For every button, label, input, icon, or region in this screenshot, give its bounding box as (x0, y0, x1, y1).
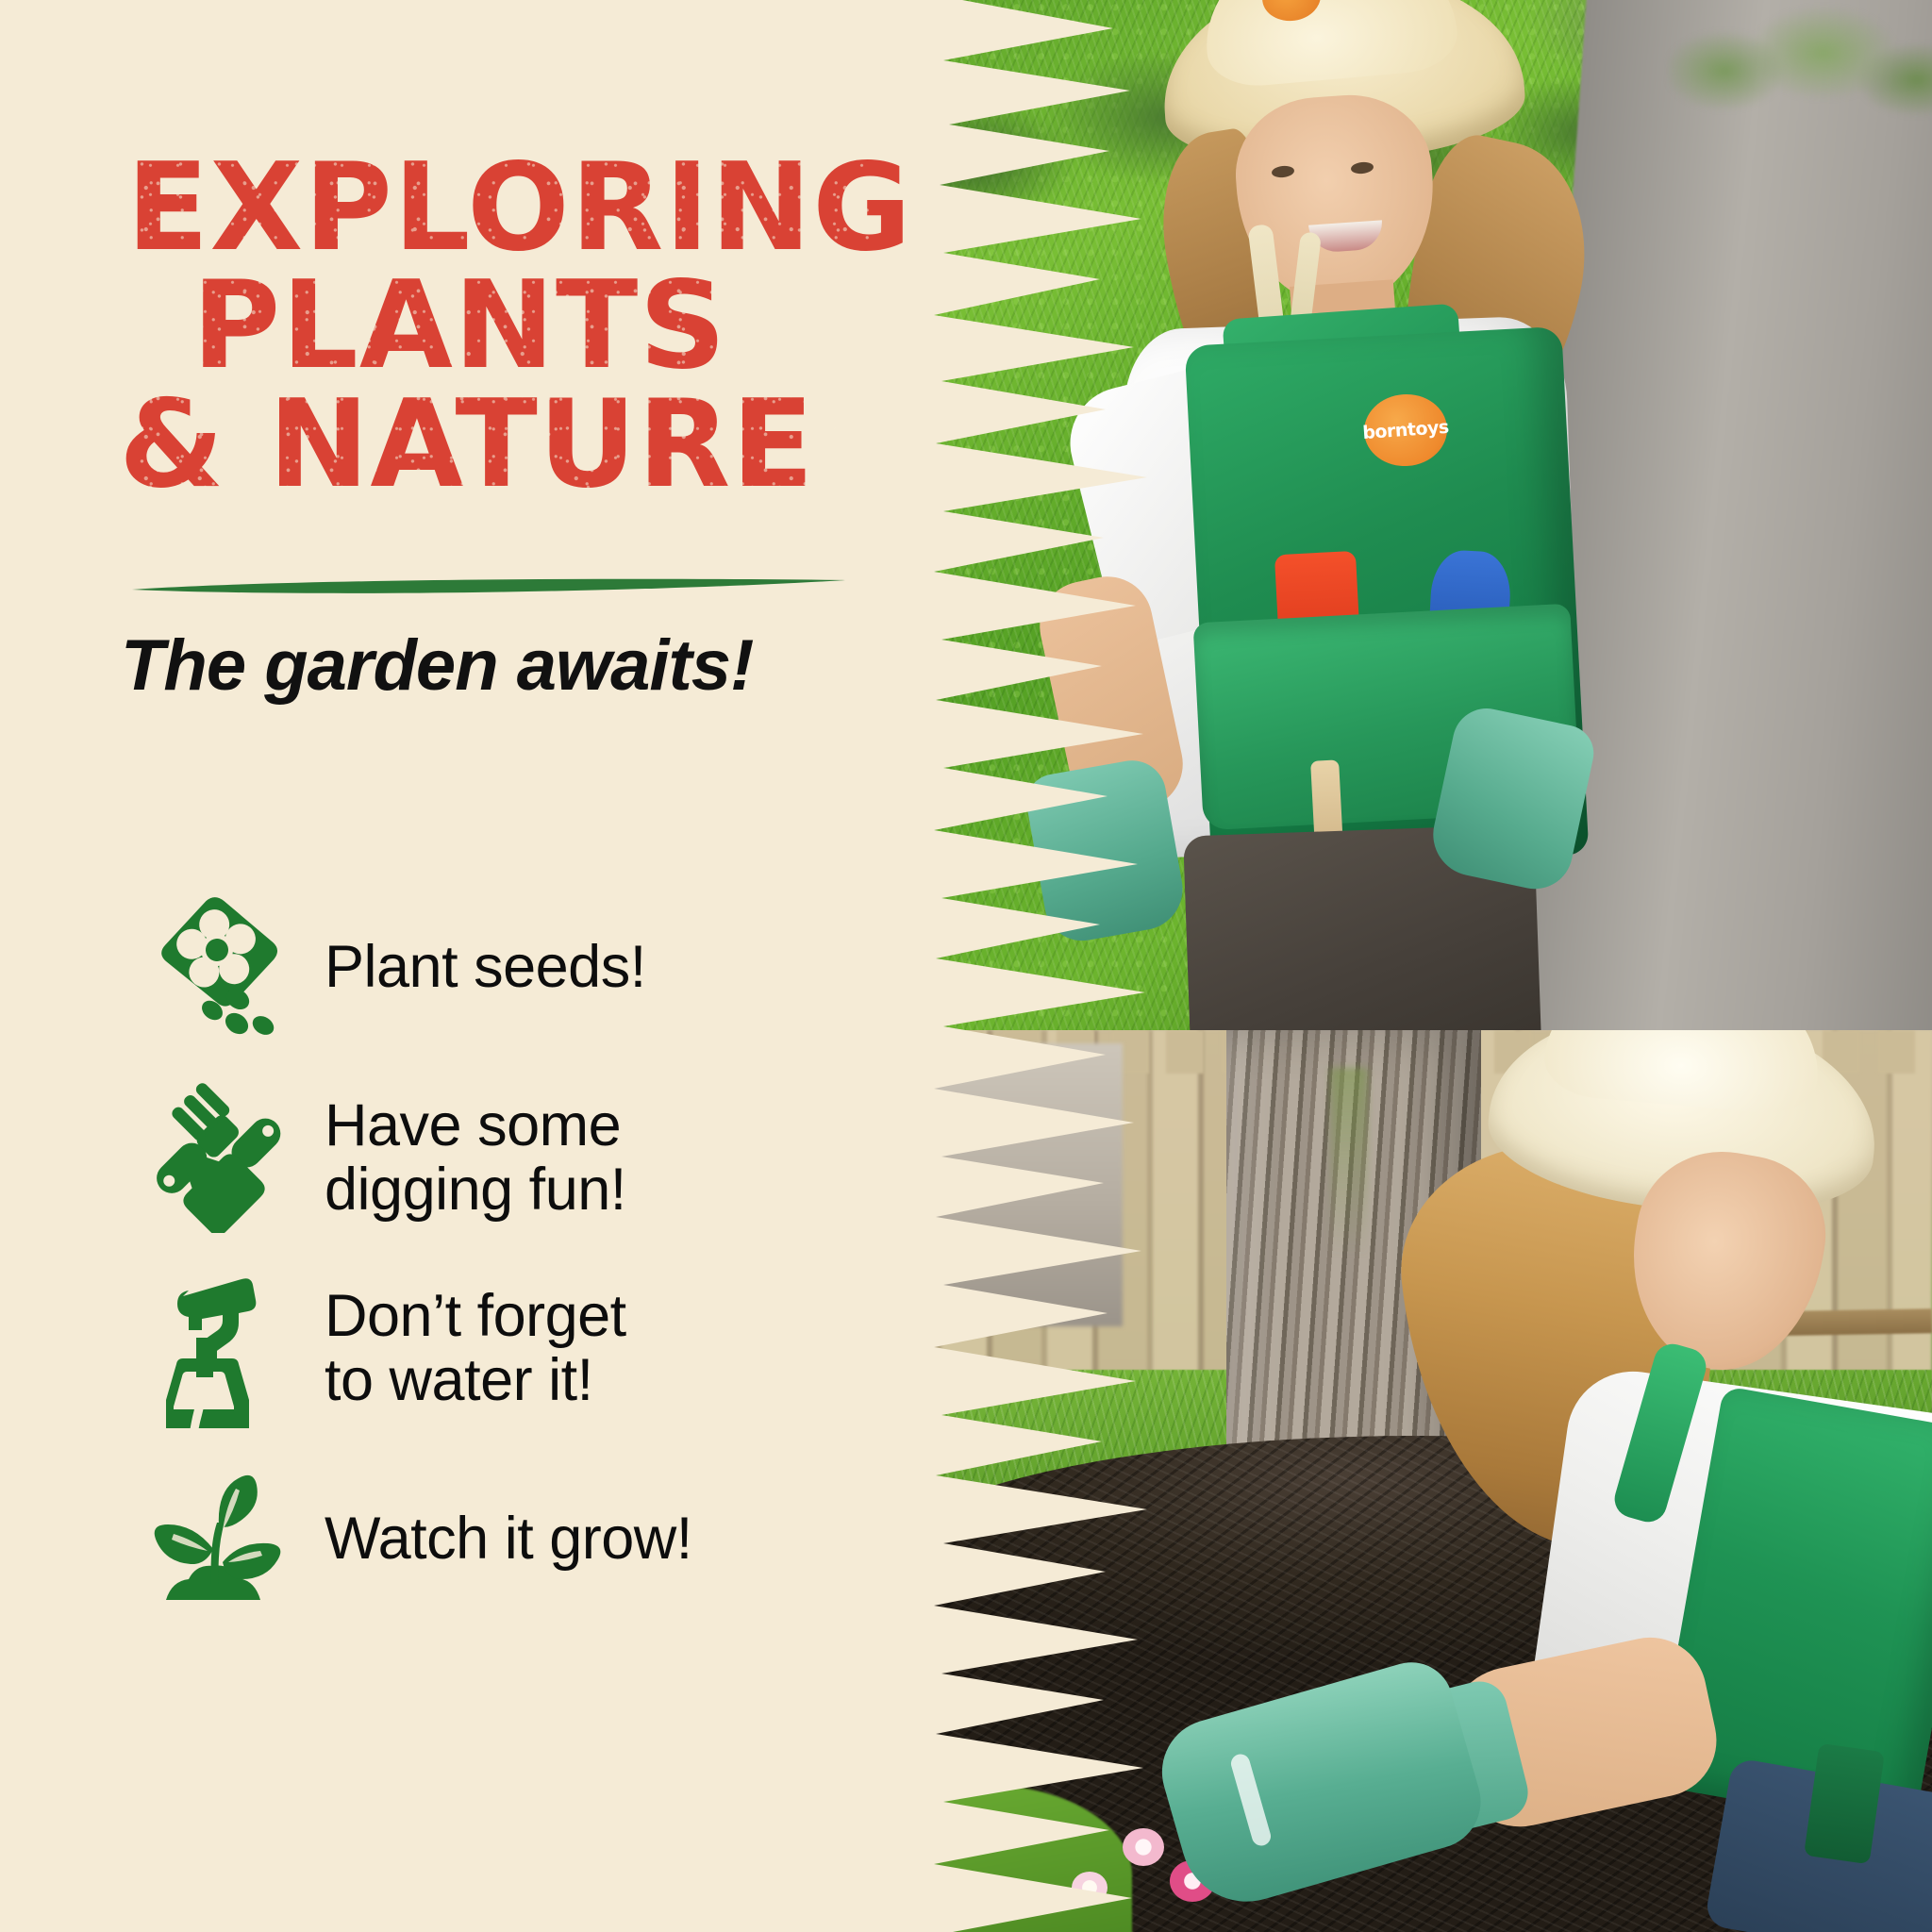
photo1-glove-left (1022, 756, 1189, 947)
feature-label-line: Plant seeds! (325, 935, 646, 999)
feature-label-line: Have some (325, 1093, 626, 1158)
headline: EXPLORING PLANTS & NATURE (119, 149, 864, 504)
feature-label: Have some digging fun! (311, 1093, 626, 1222)
photo-girl-planting-by-tree (887, 1030, 1932, 1932)
feature-label-line: digging fun! (325, 1158, 626, 1222)
feature-label-line: Don’t forget (325, 1284, 626, 1348)
logo-line-1: born (1362, 422, 1408, 441)
feature-label-line: Watch it grow! (325, 1507, 692, 1571)
headline-line-2: PLANTS (119, 267, 864, 385)
leaf-divider (132, 577, 845, 598)
feature-label: Plant seeds! (311, 935, 646, 999)
sprout-icon (123, 1468, 311, 1609)
spray-bottle-icon (123, 1277, 311, 1419)
photo-girl-with-tool-belt: born toys (887, 0, 1932, 1030)
logo-line-2: toys (1407, 419, 1449, 439)
photo2-flower-3 (1072, 1872, 1108, 1904)
photo2-tree-moss (1330, 1068, 1368, 1257)
subtitle: The garden awaits! (121, 625, 875, 707)
seed-packet-icon (123, 896, 311, 1038)
feature-label-line: to water it! (325, 1348, 626, 1412)
photo2-flower-1 (1123, 1828, 1164, 1866)
headline-line-1: EXPLORING (119, 149, 864, 267)
feature-item: Plant seeds! (123, 896, 887, 1038)
feature-item: Watch it grow! (123, 1468, 887, 1609)
content-panel: EXPLORING PLANTS & NATURE The garden awa… (0, 0, 906, 1932)
feature-label: Don’t forget to water it! (311, 1284, 626, 1412)
feature-item: Don’t forget to water it! (123, 1277, 887, 1419)
photo2-shed (887, 1043, 1123, 1326)
feature-list: Plant seeds! (123, 896, 887, 1609)
feature-label: Watch it grow! (311, 1507, 692, 1571)
photo-column: born toys (887, 0, 1932, 1932)
headline-line-3: & NATURE (119, 386, 864, 504)
feature-item: Have some digging fun! (123, 1087, 887, 1228)
garden-tools-icon (123, 1087, 311, 1228)
product-poster: born toys (0, 0, 1932, 1932)
photo1-shrubs (1668, 0, 1932, 160)
